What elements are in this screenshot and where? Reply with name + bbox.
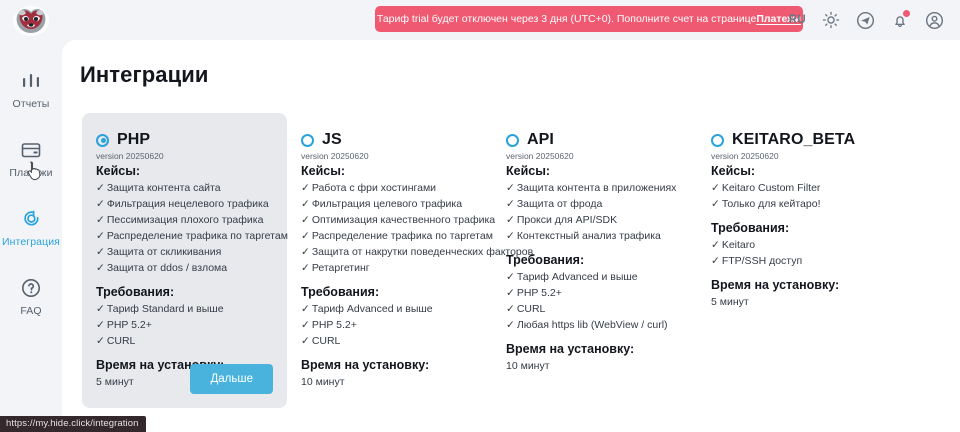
sidebar-item-otchety[interactable]: Отчеты	[0, 61, 62, 116]
check-icon: ✓	[301, 319, 310, 331]
check-icon: ✓	[301, 335, 310, 347]
case-item: ✓Защита от ddos / взлома	[96, 260, 273, 276]
integration-card[interactable]: APIversion 20250620Кейсы:✓Защита контент…	[492, 113, 697, 388]
raccoon-logo-icon	[12, 4, 50, 38]
bell-icon[interactable]	[891, 11, 909, 30]
install-time-heading: Время на установку:	[301, 358, 478, 372]
radio-button[interactable]	[711, 134, 724, 147]
integration-cards: PHPversion 20250620Кейсы:✓Защита контент…	[82, 113, 934, 408]
check-icon: ✓	[506, 287, 515, 299]
card-header: API	[506, 131, 683, 149]
case-item: ✓Фильтрация нецелевого трафика	[96, 196, 273, 212]
check-icon: ✓	[301, 262, 310, 274]
requirement-label: Любая https lib (WebView / curl)	[517, 319, 668, 331]
install-time-value: 5 минут	[711, 294, 888, 310]
case-item: ✓Прокси для API/SDK	[506, 212, 683, 228]
requirements-heading: Требования:	[711, 221, 888, 235]
card-version: version 20250620	[301, 151, 478, 161]
check-icon: ✓	[711, 239, 720, 251]
requirements-heading: Требования:	[96, 285, 273, 299]
case-label: Защита контента сайта	[107, 182, 221, 194]
sidebar: Отчеты Платежи	[0, 0, 62, 432]
requirement-item: ✓Тариф Advanced и выше	[506, 269, 683, 285]
check-icon: ✓	[96, 246, 105, 258]
requirement-item: ✓FTP/SSH доступ	[711, 253, 888, 269]
requirement-label: PHP 5.2+	[517, 287, 562, 299]
card-version: version 20250620	[506, 151, 683, 161]
case-item: ✓Защита от накрутки поведенческих фактор…	[301, 244, 478, 260]
user-account-icon[interactable]	[925, 11, 944, 30]
case-item: ✓Ретаргетинг	[301, 260, 478, 276]
case-item: ✓Пессимизация плохого трафика	[96, 212, 273, 228]
case-item: ✓Защита контента сайта	[96, 180, 273, 196]
sidebar-item-label: Отчеты	[13, 98, 50, 110]
check-icon: ✓	[96, 319, 105, 331]
check-icon: ✓	[96, 214, 105, 226]
check-icon: ✓	[96, 182, 105, 194]
requirements-heading: Требования:	[301, 285, 478, 299]
requirement-item: ✓Keitaro	[711, 237, 888, 253]
requirement-label: Тариф Advanced и выше	[312, 303, 433, 315]
integration-card[interactable]: JSversion 20250620Кейсы:✓Работа с фри хо…	[287, 113, 492, 404]
check-icon: ✓	[506, 271, 515, 283]
case-label: Только для кейтаро!	[722, 198, 821, 210]
case-label: Защита от ddos / взлома	[107, 262, 227, 274]
check-icon: ✓	[96, 335, 105, 347]
check-icon: ✓	[711, 182, 720, 194]
page-title: Интеграции	[80, 62, 209, 88]
case-label: Фильтрация нецелевого трафика	[107, 198, 269, 210]
case-item: ✓Только для кейтаро!	[711, 196, 888, 212]
check-icon: ✓	[506, 230, 515, 242]
sidebar-item-label: Платежи	[9, 167, 52, 179]
sun-icon[interactable]	[822, 11, 840, 29]
sidebar-nav: Отчеты Платежи	[0, 61, 62, 337]
case-item: ✓Распределение трафика по таргетам	[301, 228, 478, 244]
requirements-heading: Требования:	[506, 253, 683, 267]
case-item: ✓Защита контента в приложениях	[506, 180, 683, 196]
check-icon: ✓	[506, 182, 515, 194]
sidebar-item-integratsiya[interactable]: Интеграция	[0, 199, 62, 254]
case-item: ✓Защита от фрода	[506, 196, 683, 212]
case-item: ✓Распределение трафика по таргетам	[96, 228, 273, 244]
requirement-label: CURL	[517, 303, 546, 315]
install-time-heading: Время на установку:	[711, 278, 888, 292]
integration-card[interactable]: KEITARO_BETAversion 20250620Кейсы:✓Keita…	[697, 113, 902, 324]
requirement-item: ✓PHP 5.2+	[301, 317, 478, 333]
case-item: ✓Работа с фри хостингами	[301, 180, 478, 196]
check-icon: ✓	[96, 303, 105, 315]
sidebar-item-label: FAQ	[20, 305, 41, 317]
case-item: ✓Контекстный анализ трафика	[506, 228, 683, 244]
case-item: ✓Оптимизация качественного трафика	[301, 212, 478, 228]
check-icon: ✓	[301, 246, 310, 258]
card-header: PHP	[96, 131, 273, 149]
requirement-item: ✓Тариф Advanced и выше	[301, 301, 478, 317]
case-label: Оптимизация качественного трафика	[312, 214, 495, 226]
trial-warning-banner[interactable]: Тариф trial будет отключен через 3 дня (…	[375, 6, 803, 32]
banner-text: Тариф trial будет отключен через 3 дня (…	[377, 13, 756, 25]
sidebar-item-faq[interactable]: FAQ	[0, 268, 62, 323]
sidebar-item-label: Интеграция	[2, 236, 60, 248]
case-label: Защита контента в приложениях	[517, 182, 677, 194]
check-icon: ✓	[301, 198, 310, 210]
check-icon: ✓	[96, 262, 105, 274]
case-label: Защита от фрода	[517, 198, 603, 210]
check-icon: ✓	[506, 303, 515, 315]
case-label: Распределение трафика по таргетам	[107, 230, 288, 242]
check-icon: ✓	[301, 182, 310, 194]
requirement-item: ✓Любая https lib (WebView / curl)	[506, 317, 683, 333]
requirement-label: PHP 5.2+	[107, 319, 152, 331]
card-version: version 20250620	[96, 151, 273, 161]
card-version: version 20250620	[711, 151, 888, 161]
requirement-label: FTP/SSH доступ	[722, 255, 802, 267]
check-icon: ✓	[711, 255, 720, 267]
case-label: Фильтрация целевого трафика	[312, 198, 462, 210]
requirement-label: CURL	[312, 335, 341, 347]
card-title: API	[527, 131, 554, 149]
requirement-item: ✓PHP 5.2+	[506, 285, 683, 301]
card-title: KEITARO_BETA	[732, 131, 855, 149]
app-root: Отчеты Платежи	[0, 0, 960, 432]
telegram-icon[interactable]	[856, 11, 875, 30]
requirement-item: ✓CURL	[96, 333, 273, 349]
requirement-label: PHP 5.2+	[312, 319, 357, 331]
check-icon: ✓	[301, 303, 310, 315]
requirement-label: Тариф Advanced и выше	[517, 271, 638, 283]
case-label: Прокси для API/SDK	[517, 214, 617, 226]
check-icon: ✓	[301, 214, 310, 226]
install-time-value: 10 минут	[506, 358, 683, 374]
integration-card[interactable]: PHPversion 20250620Кейсы:✓Защита контент…	[82, 113, 287, 408]
notification-dot	[903, 10, 910, 17]
case-label: Распределение трафика по таргетам	[312, 230, 493, 242]
status-bar-url: https://my.hide.click/integration	[0, 416, 146, 432]
requirement-item: ✓Тариф Standard и выше	[96, 301, 273, 317]
case-label: Контекстный анализ трафика	[517, 230, 661, 242]
case-label: Ретаргетинг	[312, 262, 370, 274]
case-item: ✓Фильтрация целевого трафика	[301, 196, 478, 212]
sidebar-item-platezhi[interactable]: Платежи	[0, 130, 62, 185]
next-button[interactable]: Дальше	[190, 364, 273, 394]
requirement-item: ✓PHP 5.2+	[96, 317, 273, 333]
radio-button[interactable]	[96, 134, 109, 147]
case-label: Пессимизация плохого трафика	[107, 214, 264, 226]
requirement-item: ✓CURL	[506, 301, 683, 317]
top-header: Тариф trial будет отключен через 3 дня (…	[62, 0, 960, 40]
header-actions: RU	[789, 0, 944, 40]
check-icon: ✓	[301, 230, 310, 242]
card-header: JS	[301, 131, 478, 149]
cases-heading: Кейсы:	[711, 164, 888, 178]
case-item: ✓Защита от скликивания	[96, 244, 273, 260]
case-label: Работа с фри хостингами	[312, 182, 436, 194]
check-icon: ✓	[506, 214, 515, 226]
raccoon-logo[interactable]	[11, 3, 51, 39]
card-title: JS	[322, 131, 342, 149]
bar-chart-icon	[20, 69, 42, 93]
requirement-item: ✓CURL	[301, 333, 478, 349]
check-icon: ✓	[711, 198, 720, 210]
card-title: PHP	[117, 131, 150, 149]
language-switcher[interactable]: RU	[789, 14, 806, 26]
install-time-heading: Время на установку:	[506, 342, 683, 356]
card-header: KEITARO_BETA	[711, 131, 888, 149]
check-icon: ✓	[506, 319, 515, 331]
install-time-value: 10 минут	[301, 374, 478, 390]
integration-icon	[20, 207, 42, 231]
radio-button[interactable]	[301, 134, 314, 147]
cases-heading: Кейсы:	[301, 164, 478, 178]
case-label: Защита от скликивания	[107, 246, 222, 258]
check-icon: ✓	[96, 230, 105, 242]
case-label: Keitaro Custom Filter	[722, 182, 821, 194]
question-circle-icon	[20, 276, 42, 300]
requirement-label: Тариф Standard и выше	[107, 303, 224, 315]
case-item: ✓Keitaro Custom Filter	[711, 180, 888, 196]
cases-heading: Кейсы:	[506, 164, 683, 178]
cases-heading: Кейсы:	[96, 164, 273, 178]
check-icon: ✓	[96, 198, 105, 210]
credit-card-icon	[20, 138, 42, 162]
requirement-label: CURL	[107, 335, 136, 347]
radio-button[interactable]	[506, 134, 519, 147]
check-icon: ✓	[506, 198, 515, 210]
requirement-label: Keitaro	[722, 239, 755, 251]
